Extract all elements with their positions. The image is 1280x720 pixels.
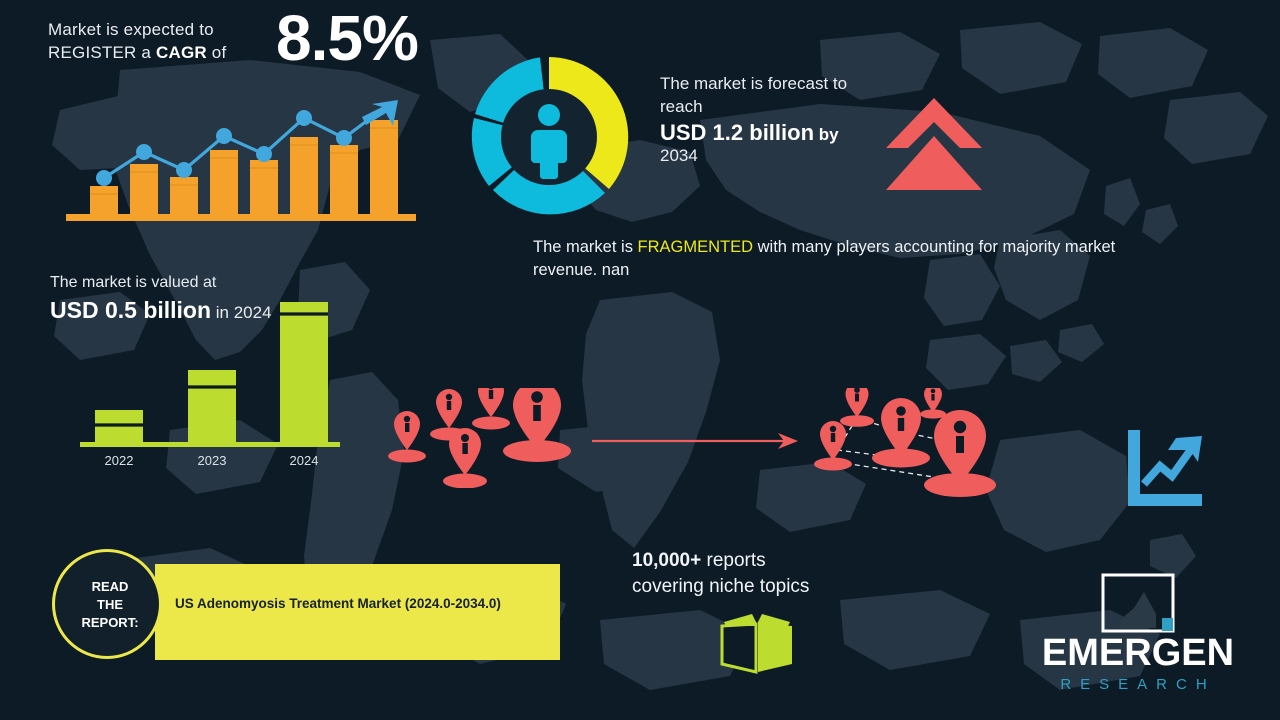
forecast-line-2: reach: [660, 95, 890, 118]
tick-2022: 2022: [105, 453, 134, 468]
map-pin: [388, 411, 426, 463]
bar-2024: [280, 302, 328, 442]
infographic-canvas: Market is expected to REGISTER a CAGR of…: [0, 0, 1280, 720]
valuation-line-1: The market is valued at: [50, 272, 370, 294]
fragmented-line-2: revenue. nan: [533, 259, 1213, 282]
map-pin: [472, 388, 510, 430]
logo-name: EMERGEN: [1018, 634, 1258, 672]
cagr-keyword: CAGR: [156, 43, 207, 62]
growth-bar-chart: [66, 82, 416, 230]
fragmentation-statement: The market is FRAGMENTED with many playe…: [533, 236, 1213, 282]
valuation-axis-labels: 2022 2023 2024: [105, 453, 319, 468]
valuation-bar-chart: 2022 2023 2024: [80, 292, 340, 472]
valuation-baseline: [80, 442, 340, 447]
read-report-badge[interactable]: READ THE REPORT:: [52, 549, 162, 659]
read-report-banner[interactable]: US Adenomyosis Treatment Market (2024.0-…: [155, 564, 560, 660]
logo-subtitle: RESEARCH: [1018, 677, 1258, 692]
reports-line1-rest: reports: [701, 550, 765, 571]
brand-logo: EMERGEN RESEARCH: [1018, 572, 1258, 702]
reports-count-block: 10,000+ reports covering niche topics: [632, 548, 912, 600]
map-pin-cluster-right: [805, 388, 1015, 500]
cta-line-3: REPORT:: [55, 614, 165, 632]
bar-2023: [188, 370, 236, 442]
report-title: US Adenomyosis Treatment Market (2024.0-…: [175, 590, 505, 618]
map-pin-large: [872, 398, 930, 468]
cagr-label: Market is expected to REGISTER a CAGR of: [48, 18, 278, 64]
tick-2023: 2023: [198, 453, 227, 468]
cta-line-2: THE: [55, 596, 165, 614]
reports-count: 10,000+: [632, 550, 701, 571]
map-pin-large: [503, 388, 571, 462]
forecast-by: by: [814, 125, 839, 144]
forecast-line-1: The market is forecast to: [660, 72, 890, 95]
reports-line-2: covering niche topics: [632, 574, 912, 600]
fragmented-keyword: FRAGMENTED: [638, 238, 754, 256]
valuation-bars: [95, 302, 328, 442]
tick-2024: 2024: [290, 453, 319, 468]
forecast-amount: USD 1.2 billion: [660, 120, 814, 145]
read-report-cta: READ THE REPORT:: [55, 578, 165, 632]
growth-chart-icon: [1122, 428, 1206, 512]
cagr-line-1: Market is expected to: [48, 18, 278, 41]
transition-arrow-icon: [592, 430, 802, 452]
map-pin-cluster-left: [385, 388, 585, 488]
up-chevron-icon: [884, 96, 984, 192]
map-pin: [840, 388, 874, 427]
fragmented-post: with many players accounting for majorit…: [753, 238, 1115, 256]
map-pin-large: [924, 410, 996, 497]
forecast-year: 2034: [660, 146, 890, 166]
map-pin: [814, 421, 852, 471]
cagr-line2-post: of: [207, 43, 227, 62]
cagr-value: 8.5%: [276, 6, 418, 70]
market-share-donut: [464, 52, 634, 222]
cta-line-1: READ: [55, 578, 165, 596]
logo-mark-icon: [1100, 572, 1176, 634]
cagr-line2-pre: REGISTER a: [48, 43, 156, 62]
map-pin: [920, 388, 946, 419]
cagr-line-2: REGISTER a CAGR of: [48, 41, 278, 64]
fragmented-pre: The market is: [533, 238, 638, 256]
chart-baseline: [66, 214, 416, 221]
reports-line-1: 10,000+ reports: [632, 548, 912, 574]
forecast-block: The market is forecast to reach USD 1.2 …: [660, 72, 890, 166]
open-book-icon: [718, 612, 796, 674]
